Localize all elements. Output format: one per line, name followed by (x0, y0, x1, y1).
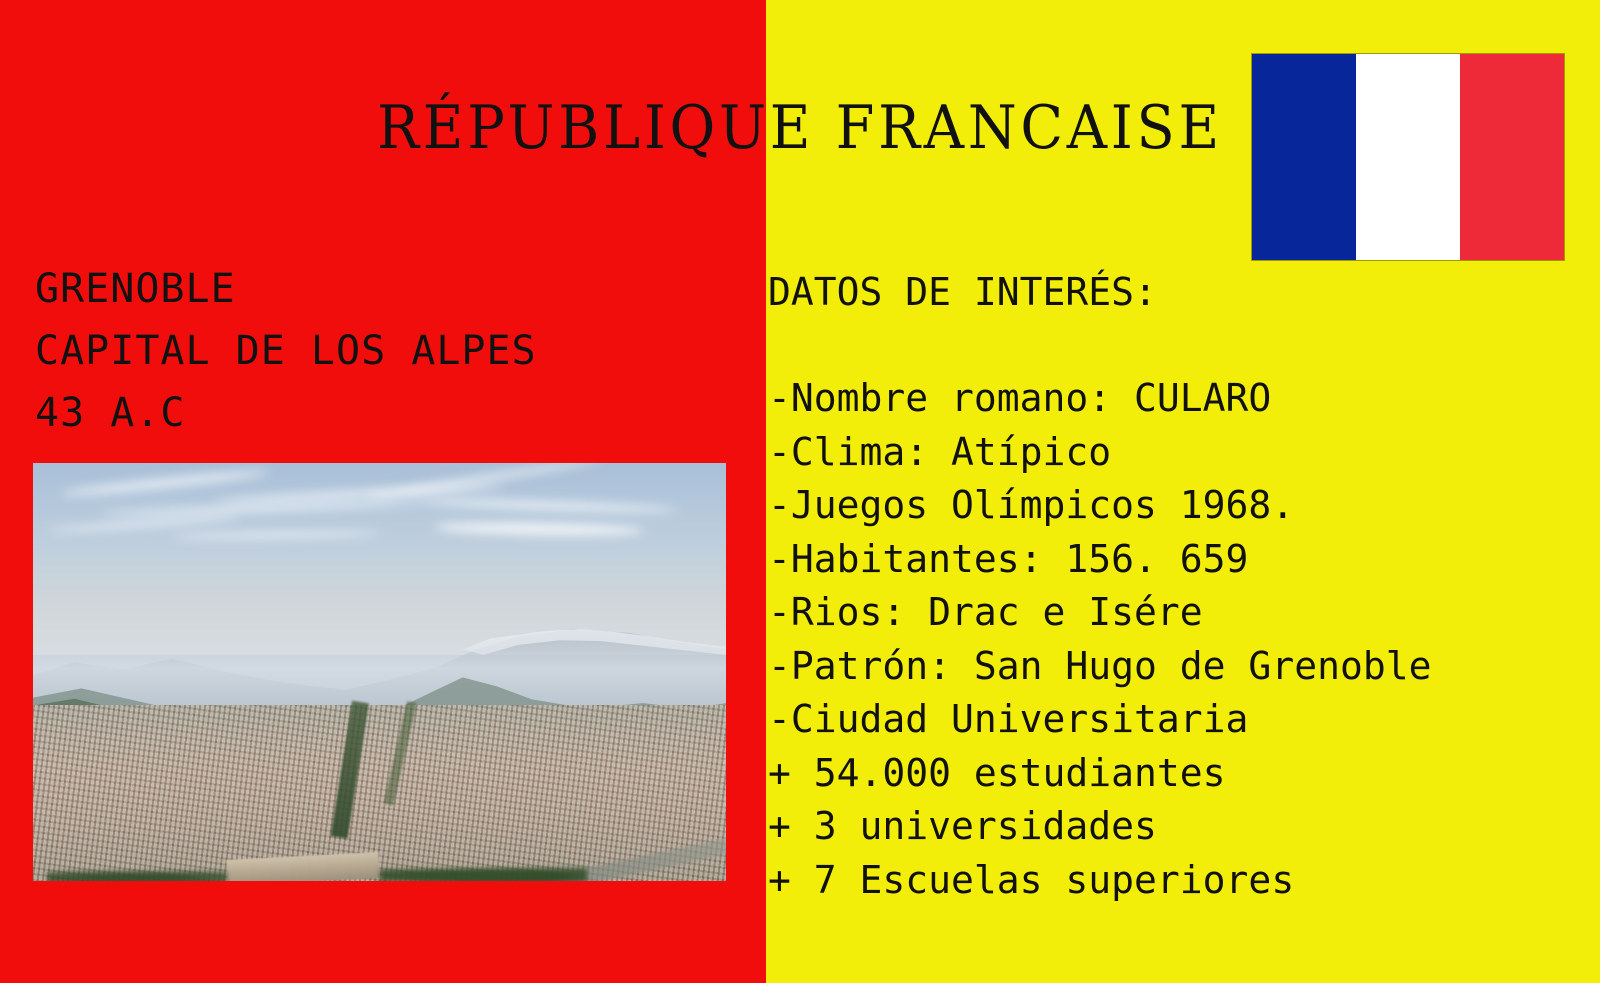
fact-item: -Patrón: San Hugo de Grenoble (768, 640, 1431, 694)
photo-haze (33, 613, 726, 713)
tree-cluster (380, 867, 588, 881)
photo-cityscape (33, 705, 726, 881)
cloud (172, 530, 380, 539)
fact-item: -Nombre romano: CULARO (768, 372, 1431, 426)
french-flag-icon (1252, 54, 1564, 260)
grenoble-aerial-photo (33, 463, 726, 881)
fact-item: -Habitantes: 156. 659 (768, 533, 1431, 587)
flag-stripe-blue (1252, 54, 1356, 260)
left-line: GRENOBLE (35, 258, 537, 320)
cloud (47, 514, 241, 533)
left-heading-block: GRENOBLE CAPITAL DE LOS ALPES 43 A.C (35, 258, 537, 444)
fact-item: -Clima: Atípico (768, 426, 1431, 480)
cloud (435, 521, 643, 536)
tree-cluster (47, 870, 227, 881)
left-line: 43 A.C (35, 382, 537, 444)
fact-item: + 3 universidades (768, 800, 1431, 854)
flag-stripe-white (1356, 54, 1460, 260)
cloud (102, 500, 421, 518)
flag-stripe-red (1460, 54, 1564, 260)
cloud (367, 463, 601, 499)
right-heading: DATOS DE INTERÉS: (768, 266, 1157, 318)
fact-item: -Juegos Olímpicos 1968. (768, 479, 1431, 533)
cloud (414, 497, 677, 515)
cloud (61, 468, 269, 499)
fact-item: -Rios: Drac e Isére (768, 586, 1431, 640)
facts-list: -Nombre romano: CULARO -Clima: Atípico -… (768, 372, 1431, 907)
fact-item: + 7 Escuelas superiores (768, 854, 1431, 908)
city-buildings-texture (33, 705, 726, 881)
fact-item: -Ciudad Universitaria (768, 693, 1431, 747)
fact-item: + 54.000 estudiantes (768, 747, 1431, 801)
slide-root: RÉPUBLIQUE FRANCAISE GRENOBLE CAPITAL DE… (0, 0, 1600, 983)
left-line: CAPITAL DE LOS ALPES (35, 320, 537, 382)
